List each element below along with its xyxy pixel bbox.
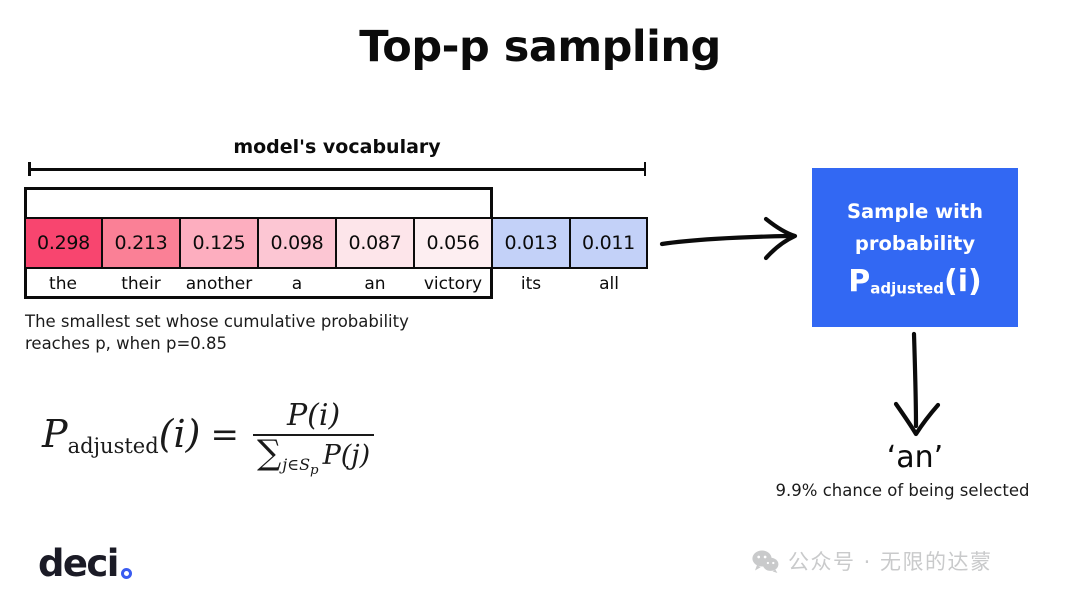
probability-cell: 0.056 [414, 217, 492, 269]
deci-logo: deci [38, 545, 132, 582]
adjusted-probability-formula: Padjusted(i) = P(i) ∑j∈SpP(j) [42, 398, 374, 471]
selected-token-chance: 9.9% chance of being selected [735, 481, 1070, 500]
probability-cell: 0.011 [570, 217, 648, 269]
token-cell: all [570, 269, 648, 299]
nucleus-caption-line-1: The smallest set whose cumulative probab… [25, 311, 525, 333]
probability-cell: 0.087 [336, 217, 414, 269]
selected-token: ‘an’ [760, 440, 1070, 475]
token-cell: another [180, 269, 258, 299]
formula-lhs: Padjusted(i) [42, 412, 200, 458]
probability-cell: 0.213 [102, 217, 180, 269]
formula-fraction: P(i) ∑j∈SpP(j) [253, 398, 374, 471]
nucleus-caption: The smallest set whose cumulative probab… [25, 311, 525, 355]
ring-dot-icon [121, 568, 132, 579]
sample-box-symbol: P [848, 264, 870, 299]
token-cell: their [102, 269, 180, 299]
formula-equals: = [210, 415, 239, 455]
sample-box-symbol-argument: (i) [944, 264, 982, 299]
sample-box-line-2: probability [855, 228, 975, 260]
wechat-watermark-text: 公众号 · 无限的达蒙 [788, 546, 993, 576]
sample-box-symbol-subscript: adjusted [870, 279, 944, 297]
formula-lhs-argument: (i) [159, 412, 201, 456]
formula-sigma-subscript-main: j∈S [282, 455, 310, 474]
token-cell: a [258, 269, 336, 299]
token-row: thetheiranotheraanvictoryitsall [24, 269, 648, 299]
token-cell: victory [414, 269, 492, 299]
probability-cell: 0.125 [180, 217, 258, 269]
wechat-icon [752, 550, 779, 573]
formula-sigma-subscript-sub: p [310, 463, 319, 478]
formula-lhs-subscript: adjusted [68, 433, 159, 457]
sample-with-probability-box: Sample with probability Padjusted(i) [812, 168, 1018, 327]
formula-denominator-term: P(j) [323, 440, 371, 471]
token-cell: its [492, 269, 570, 299]
formula-sigma-icon: ∑ [257, 438, 281, 469]
token-cell: an [336, 269, 414, 299]
probability-row: 0.2980.2130.1250.0980.0870.0560.0130.011 [24, 217, 648, 269]
vocabulary-span-bracket-icon [28, 162, 646, 176]
logo-wordmark: deci [38, 545, 118, 582]
probability-cell: 0.298 [24, 217, 102, 269]
span-right-tick [644, 162, 647, 176]
sample-box-line-1: Sample with [847, 196, 983, 228]
sample-box-formula: Padjusted(i) [848, 264, 981, 299]
token-cell: the [24, 269, 102, 299]
nucleus-caption-line-2: reaches p, when p=0.85 [25, 333, 525, 355]
page-title: Top-p sampling [0, 22, 1080, 72]
hand-drawn-down-arrow-icon [880, 330, 952, 442]
formula-sigma-subscript: j∈Sp [282, 455, 318, 478]
token-probability-table: 0.2980.2130.1250.0980.0870.0560.0130.011… [24, 187, 650, 299]
formula-lhs-symbol: P [42, 412, 68, 456]
formula-numerator: P(i) [279, 398, 348, 434]
span-bar [28, 168, 646, 171]
wechat-watermark: 公众号 · 无限的达蒙 [752, 546, 993, 576]
vocabulary-label: model's vocabulary [28, 136, 646, 158]
hand-drawn-right-arrow-icon [658, 214, 808, 268]
formula-denominator: ∑j∈SpP(j) [253, 436, 374, 471]
probability-cell: 0.013 [492, 217, 570, 269]
probability-cell: 0.098 [258, 217, 336, 269]
